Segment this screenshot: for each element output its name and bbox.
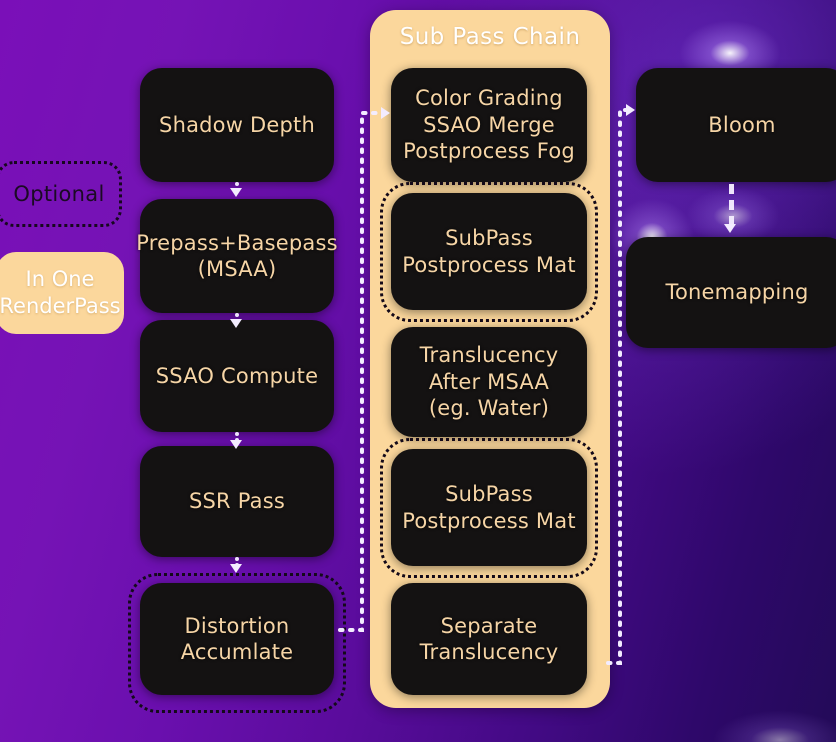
node-label: SSAO Merge: [403, 112, 575, 138]
node-label: (MSAA): [136, 256, 337, 282]
node-label: Tonemapping: [666, 279, 809, 305]
node-label: Postprocess Mat: [402, 252, 576, 278]
node-label: SubPass: [402, 225, 576, 251]
arrowhead-prepass-to-ssao: [230, 319, 242, 328]
node-color-grading[interactable]: Color Grading SSAO Merge Postprocess Fog: [391, 68, 587, 182]
node-label: Separate: [420, 613, 559, 639]
node-prepass-basepass[interactable]: Prepass+Basepass (MSAA): [140, 199, 334, 313]
node-separate-translucency[interactable]: Separate Translucency: [391, 583, 587, 695]
node-bloom[interactable]: Bloom: [636, 68, 836, 182]
node-translucency-after-msaa[interactable]: Translucency After MSAA (eg. Water): [391, 327, 587, 437]
node-label: SubPass: [402, 481, 576, 507]
node-label: Accumlate: [181, 639, 294, 665]
node-ssao-compute[interactable]: SSAO Compute: [140, 320, 334, 432]
node-ssr-pass[interactable]: SSR Pass: [140, 446, 334, 557]
diagram-canvas: Optional In One RenderPass Shadow Depth …: [0, 0, 836, 742]
arrowhead-separate-translucency-to-bloom: [626, 104, 635, 116]
node-label: Shadow Depth: [159, 112, 315, 138]
legend-optional-label: Optional: [13, 182, 104, 206]
node-label: SSR Pass: [189, 488, 285, 514]
node-distortion-accumlate[interactable]: Distortion Accumlate: [140, 583, 334, 695]
node-subpass-postprocess-mat-2[interactable]: SubPass Postprocess Mat: [391, 449, 587, 566]
node-label: Prepass+Basepass: [136, 230, 337, 256]
sub-pass-chain-title: Sub Pass Chain: [370, 24, 610, 50]
node-label: SSAO Compute: [156, 363, 318, 389]
arrowhead-ssr-to-distortion: [230, 564, 242, 573]
node-shadow-depth[interactable]: Shadow Depth: [140, 68, 334, 182]
node-label: Distortion: [181, 613, 294, 639]
node-subpass-postprocess-mat-1[interactable]: SubPass Postprocess Mat: [391, 193, 587, 310]
glow-sparkle-bottom-right: [690, 700, 836, 742]
legend-in-one-renderpass: In One RenderPass: [0, 252, 124, 334]
node-label: Translucency: [420, 342, 559, 368]
node-label: Color Grading: [403, 85, 575, 111]
node-label: (eg. Water): [420, 395, 559, 421]
arrowhead-shadow-to-prepass: [230, 188, 242, 197]
legend-renderpass-label-line2: RenderPass: [0, 293, 121, 320]
node-label: Translucency: [420, 639, 559, 665]
arrowhead-distortion-to-color-grading: [381, 107, 390, 119]
node-label: Postprocess Fog: [403, 138, 575, 164]
node-tonemapping[interactable]: Tonemapping: [626, 237, 836, 348]
node-label: Bloom: [708, 112, 775, 138]
arrowhead-bloom-to-tonemapping: [724, 224, 736, 233]
legend-renderpass-label-line1: In One: [0, 266, 121, 293]
node-label: Postprocess Mat: [402, 508, 576, 534]
arrowhead-ssao-to-ssr: [230, 440, 242, 449]
connector-bloom-to-tonemapping: [729, 184, 734, 226]
legend-optional: Optional: [0, 161, 122, 227]
node-label: After MSAA: [420, 369, 559, 395]
